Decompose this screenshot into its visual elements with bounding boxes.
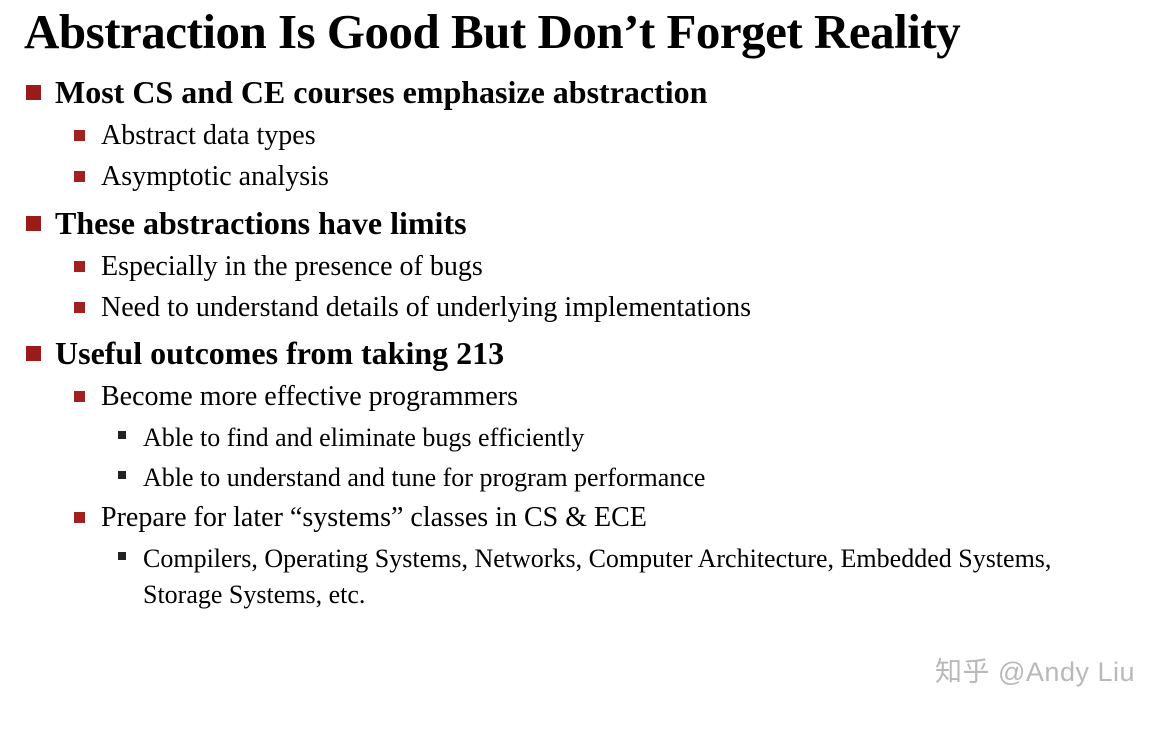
bullet-level2: Abstract data types [26, 118, 1157, 154]
bullet-text: Asymptotic analysis [90, 159, 329, 195]
bullet-level3: Compilers, Operating Systems, Networks, … [26, 541, 1157, 613]
bullet-text: Useful outcomes from taking 213 [46, 333, 504, 374]
bullet-level2: Need to understand details of underlying… [26, 290, 1157, 326]
bullet-text: Able to find and eliminate bugs efficien… [132, 420, 584, 456]
square-bullet-icon [74, 118, 90, 141]
square-bullet-icon [26, 203, 46, 231]
bullet-level2: Especially in the presence of bugs [26, 249, 1157, 285]
bullet-text: Able to understand and tune for program … [132, 460, 705, 496]
bullet-level3: Able to understand and tune for program … [26, 460, 1157, 496]
square-bullet-icon [74, 379, 90, 402]
bullet-level3: Able to find and eliminate bugs efficien… [26, 420, 1157, 456]
bullet-level2: Prepare for later “systems” classes in C… [26, 500, 1157, 536]
slide: Abstraction Is Good But Don’t Forget Rea… [0, 0, 1157, 731]
slide-body: Most CS and CE courses emphasize abstrac… [0, 59, 1157, 613]
bullet-text: Prepare for later “systems” classes in C… [90, 500, 647, 536]
bullet-text: Compilers, Operating Systems, Networks, … [132, 541, 1103, 613]
bullet-level2: Asymptotic analysis [26, 159, 1157, 195]
bullet-level1: Most CS and CE courses emphasize abstrac… [26, 72, 1157, 113]
bullet-text: Need to understand details of underlying… [90, 290, 751, 326]
bullet-level1: Useful outcomes from taking 213 [26, 333, 1157, 374]
bullet-text: Abstract data types [90, 118, 316, 154]
square-bullet-icon [26, 333, 46, 361]
square-bullet-icon [118, 420, 132, 439]
square-bullet-icon [74, 290, 90, 313]
square-bullet-icon [118, 460, 132, 479]
bullet-level2: Become more effective programmers [26, 379, 1157, 415]
bullet-text: Especially in the presence of bugs [90, 249, 483, 285]
square-bullet-icon [74, 159, 90, 182]
bullet-text: Become more effective programmers [90, 379, 518, 415]
watermark: 知乎 @Andy Liu [935, 650, 1135, 689]
square-bullet-icon [74, 249, 90, 272]
square-bullet-icon [26, 72, 46, 100]
bullet-level1: These abstractions have limits [26, 203, 1157, 244]
square-bullet-icon [118, 541, 132, 560]
page-title: Abstraction Is Good But Don’t Forget Rea… [0, 0, 1157, 59]
bullet-text: Most CS and CE courses emphasize abstrac… [46, 72, 707, 113]
square-bullet-icon [74, 500, 90, 523]
bullet-text: These abstractions have limits [46, 203, 467, 244]
